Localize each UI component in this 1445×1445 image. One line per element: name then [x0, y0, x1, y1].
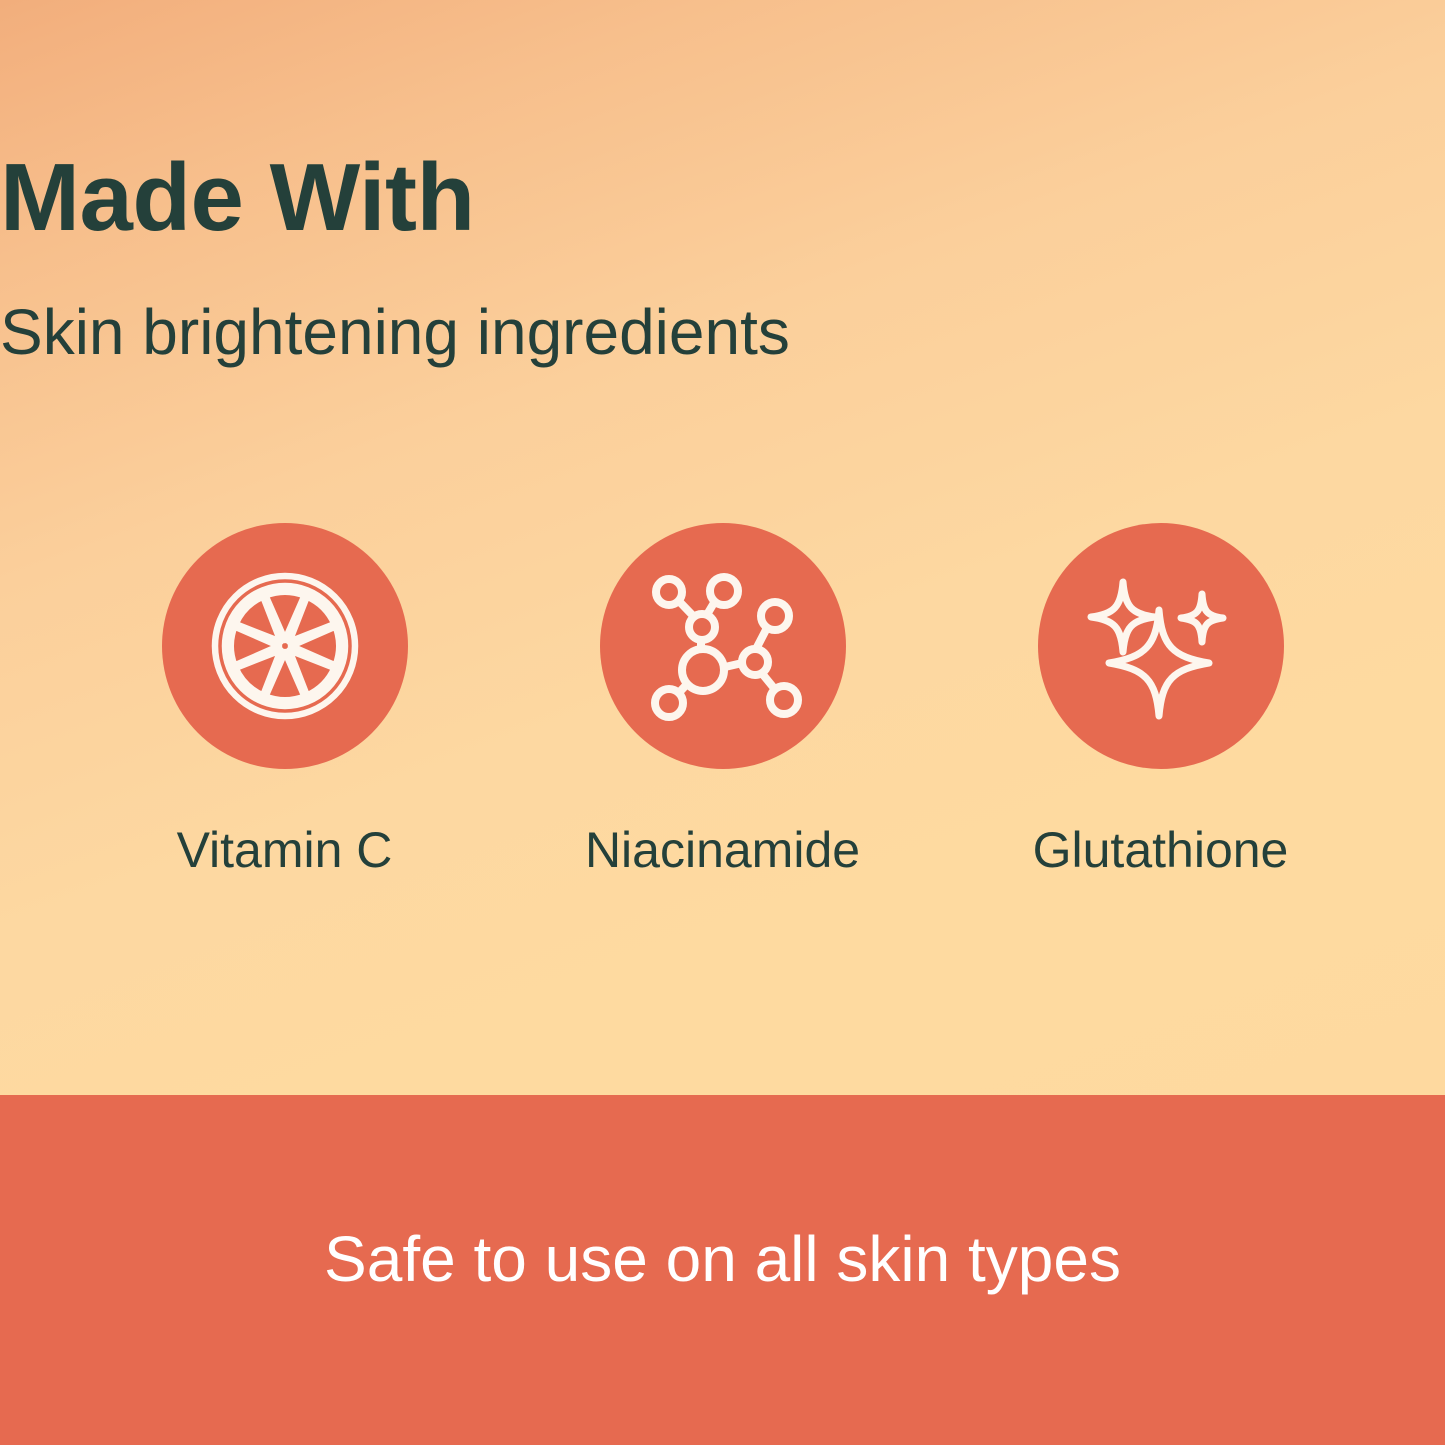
ingredient-item-niacinamide: Niacinamide: [599, 523, 847, 878]
ingredient-label-vitamin-c: Vitamin C: [177, 823, 393, 878]
ingredient-label-glutathione: Glutathione: [1033, 823, 1289, 878]
banner-text: Safe to use on all skin types: [0, 1227, 1445, 1291]
ingredient-list: Vitamin C: [0, 523, 1445, 878]
molecule-icon: [643, 566, 803, 726]
ingredient-label-niacinamide: Niacinamide: [585, 823, 860, 878]
ingredient-item-glutathione: Glutathione: [1037, 523, 1285, 878]
sparkles-icon: [1081, 566, 1241, 726]
ingredient-badge-niacinamide: [600, 523, 846, 769]
citrus-slice-icon: [205, 566, 365, 726]
page-subtitle: Skin brightening ingredients: [0, 300, 1445, 364]
made-with-infographic: Made With Skin brightening ingredients: [0, 0, 1445, 1445]
page-title: Made With: [0, 150, 1445, 246]
ingredient-item-vitamin-c: Vitamin C: [161, 523, 409, 878]
ingredient-badge-vitamin-c: [162, 523, 408, 769]
ingredient-badge-glutathione: [1038, 523, 1284, 769]
